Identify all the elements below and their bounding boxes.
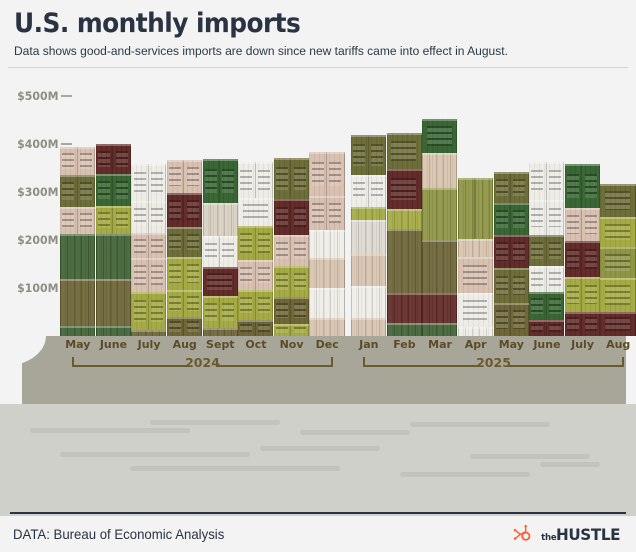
container-top-edge — [167, 290, 202, 292]
shipping-container — [387, 169, 422, 209]
container-panel — [309, 258, 344, 288]
container-top-edge — [309, 152, 344, 154]
shipping-container — [60, 326, 95, 336]
container-panel — [547, 235, 565, 266]
shipping-container — [274, 235, 309, 266]
container-panel — [369, 175, 387, 207]
shipping-container — [494, 303, 529, 336]
container-top-edge — [387, 229, 422, 231]
container-panel — [149, 292, 167, 330]
container-top-edge — [600, 247, 635, 249]
shipping-container — [203, 296, 238, 328]
shipping-container — [131, 201, 166, 233]
container-panel — [96, 144, 114, 174]
shipping-container — [131, 258, 166, 292]
container-panel — [494, 172, 512, 203]
container-top-edge — [167, 227, 202, 229]
bar-aug-2024[interactable] — [167, 160, 202, 336]
shipping-container — [60, 147, 95, 175]
shipping-container — [131, 233, 166, 258]
container-panel — [458, 293, 493, 327]
container-top-edge — [529, 292, 564, 294]
container-top-edge — [167, 257, 202, 259]
container-top-edge — [422, 293, 457, 295]
container-panel — [167, 317, 185, 336]
container-panel — [203, 236, 221, 267]
wave — [60, 452, 250, 457]
shipping-container — [351, 318, 386, 336]
container-top-edge — [600, 217, 635, 219]
brand-lockup[interactable]: the HUSTLE — [512, 524, 624, 544]
shipping-container — [565, 208, 600, 241]
container-top-edge — [203, 159, 238, 161]
container-panel — [238, 162, 256, 198]
imports-bar-chart: $500M$400M$300M$200M$100M — [0, 78, 636, 348]
container-panel — [351, 318, 386, 336]
container-panel — [256, 290, 274, 320]
container-panel — [387, 229, 422, 293]
bar-june-2024[interactable] — [96, 144, 131, 336]
container-panel — [422, 293, 457, 323]
container-top-edge — [565, 312, 600, 314]
container-top-edge — [494, 303, 529, 305]
shipping-container — [274, 158, 309, 199]
shipping-container — [167, 227, 202, 257]
container-top-edge — [422, 188, 457, 190]
container-panel — [529, 235, 547, 266]
container-top-edge — [351, 318, 386, 320]
container-panel — [291, 266, 309, 297]
container-panel — [184, 317, 202, 336]
container-top-edge — [274, 324, 309, 326]
container-top-edge — [600, 312, 635, 314]
container-panel — [203, 267, 238, 296]
hustle-wordmark: the HUSTLE — [541, 525, 624, 544]
container-top-edge — [458, 293, 493, 295]
container-top-edge — [96, 326, 131, 328]
container-top-edge — [494, 203, 529, 205]
shipping-container — [494, 203, 529, 235]
shipping-container — [565, 277, 600, 312]
container-panel — [131, 233, 149, 258]
container-top-edge — [565, 241, 600, 243]
container-top-edge — [351, 135, 386, 137]
bar-sept-2024[interactable] — [203, 159, 238, 336]
container-panel — [274, 235, 292, 266]
container-top-edge — [96, 144, 131, 146]
wave — [260, 446, 380, 451]
shipping-container — [167, 160, 202, 193]
container-top-edge — [274, 297, 309, 299]
container-panel — [184, 290, 202, 317]
container-top-edge — [131, 233, 166, 235]
y-axis-label: $300M — [17, 185, 58, 199]
container-top-edge — [60, 147, 95, 149]
shipping-container — [203, 203, 238, 236]
container-panel — [547, 320, 565, 336]
container-panel — [220, 236, 238, 267]
container-top-edge — [60, 279, 95, 281]
container-panel — [238, 198, 273, 226]
x-axis-month-label: Nov — [280, 338, 304, 351]
container-top-edge — [131, 330, 166, 332]
x-axis-month-label: July — [138, 338, 161, 351]
wave — [470, 454, 590, 459]
container-panel — [351, 220, 386, 254]
container-top-edge — [274, 158, 309, 160]
container-panel — [149, 233, 167, 258]
year-brace-2025: 2025 — [363, 356, 624, 369]
wave — [130, 466, 340, 471]
container-panel — [494, 268, 512, 303]
x-axis-month-label: May — [499, 338, 524, 351]
container-panel — [131, 201, 149, 233]
x-axis-month-label: Jan — [359, 338, 378, 351]
y-axis-label: $500M — [17, 89, 58, 103]
container-top-edge — [309, 258, 344, 260]
x-axis-month-label: May — [65, 338, 90, 351]
container-panel — [327, 196, 345, 230]
shipping-container — [203, 159, 238, 203]
shipping-container — [494, 235, 529, 268]
container-panel — [184, 160, 202, 193]
bar-jan-2025[interactable] — [351, 135, 386, 336]
container-panel — [149, 258, 167, 292]
container-top-edge — [565, 164, 600, 166]
container-panel — [131, 292, 149, 330]
container-top-edge — [238, 290, 273, 292]
hubspot-sprocket-icon — [512, 524, 532, 544]
container-top-edge — [387, 209, 422, 211]
shipping-container — [600, 312, 635, 336]
shipping-container — [131, 292, 166, 330]
container-panel — [60, 234, 95, 279]
brace-line-right — [217, 365, 334, 367]
container-top-edge — [529, 162, 564, 164]
shipping-container — [60, 207, 95, 234]
container-panel — [131, 258, 149, 292]
container-panel — [600, 278, 635, 312]
container-top-edge — [203, 267, 238, 269]
container-panel — [203, 203, 238, 236]
container-top-edge — [458, 178, 493, 180]
container-panel — [582, 241, 600, 277]
container-panel — [256, 162, 274, 198]
container-top-edge — [131, 164, 166, 166]
x-axis-month-label: Sept — [206, 338, 235, 351]
container-top-edge — [529, 235, 564, 237]
container-panel — [422, 188, 457, 240]
container-panel — [582, 277, 600, 312]
shipping-container — [238, 198, 273, 226]
brand-the: the — [541, 533, 556, 543]
container-panel — [600, 184, 635, 217]
bar-june-2025[interactable] — [529, 162, 564, 336]
wave — [540, 462, 600, 467]
container-top-edge — [387, 133, 422, 135]
container-top-edge — [60, 234, 95, 236]
container-panel — [547, 266, 565, 292]
container-panel — [582, 208, 600, 241]
container-panel — [387, 169, 422, 209]
year-brace-2024: 2024 — [72, 356, 333, 369]
container-panel — [458, 178, 476, 239]
shipping-container — [529, 235, 564, 266]
container-panel — [256, 320, 274, 336]
container-top-edge — [167, 160, 202, 162]
shipping-container — [309, 258, 344, 288]
bar-aug-2025[interactable] — [600, 184, 635, 336]
container-top-edge — [131, 292, 166, 294]
shipping-container — [203, 328, 238, 336]
container-panel — [274, 158, 292, 199]
shipping-container — [351, 254, 386, 286]
container-panel — [494, 235, 512, 268]
bar-july-2025[interactable] — [565, 164, 600, 336]
shipping-container — [600, 217, 635, 247]
container-top-edge — [494, 268, 529, 270]
shipping-container — [309, 196, 344, 230]
container-panel — [475, 178, 493, 239]
container-top-edge — [458, 327, 493, 329]
container-panel — [291, 158, 309, 199]
x-axis-month-label: Feb — [393, 338, 415, 351]
container-top-edge — [309, 288, 344, 290]
shipping-container — [458, 327, 493, 336]
container-panel — [547, 162, 565, 200]
shipping-container — [309, 152, 344, 196]
container-panel — [131, 164, 149, 201]
container-panel — [274, 199, 292, 235]
container-top-edge — [238, 198, 273, 200]
container-panel — [387, 209, 422, 229]
shipping-container — [600, 184, 635, 217]
y-axis-label: $400M — [17, 137, 58, 151]
shipping-container — [131, 164, 166, 201]
container-top-edge — [96, 234, 131, 236]
container-panel — [184, 193, 202, 227]
container-panel — [547, 292, 565, 320]
shipping-container — [96, 206, 131, 234]
bar-july-2024[interactable] — [131, 164, 166, 336]
container-panel — [113, 144, 131, 174]
container-panel — [529, 200, 547, 235]
container-top-edge — [529, 200, 564, 202]
container-top-edge — [203, 203, 238, 205]
container-top-edge — [458, 239, 493, 241]
wave — [410, 422, 550, 427]
container-top-edge — [238, 162, 273, 164]
shipping-container — [422, 240, 457, 293]
container-panel — [387, 133, 422, 169]
shipping-container — [529, 292, 564, 320]
container-top-edge — [351, 175, 386, 177]
wave — [400, 472, 530, 477]
shipping-container — [529, 266, 564, 292]
plot-area — [60, 78, 636, 348]
container-panel — [529, 292, 547, 320]
container-top-edge — [274, 199, 309, 201]
container-panel — [309, 288, 344, 318]
container-top-edge — [309, 196, 344, 198]
sea — [0, 404, 636, 516]
bar-feb-2025[interactable] — [387, 133, 422, 336]
shipping-container — [274, 297, 309, 324]
shipping-container — [60, 234, 95, 279]
container-panel — [78, 175, 96, 207]
container-panel — [167, 227, 185, 257]
shipping-container — [167, 290, 202, 317]
container-panel — [600, 217, 635, 247]
container-top-edge — [422, 240, 457, 242]
bar-nov-2024[interactable] — [274, 158, 309, 336]
container-top-edge — [422, 323, 457, 325]
shipping-container — [351, 220, 386, 254]
shipping-container — [565, 164, 600, 208]
shipping-container — [600, 278, 635, 312]
container-top-edge — [96, 206, 131, 208]
shipping-container — [96, 326, 131, 336]
shipping-container — [458, 178, 493, 239]
container-panel — [220, 296, 238, 328]
page-title: U.S. monthly imports — [14, 10, 573, 38]
container-top-edge — [203, 328, 238, 330]
container-panel — [238, 290, 256, 320]
container-top-edge — [458, 257, 493, 259]
container-panel — [511, 268, 529, 303]
bar-dec-2024[interactable] — [309, 152, 344, 336]
shipping-container — [422, 153, 457, 188]
shipping-container — [309, 230, 344, 258]
shipping-container — [203, 236, 238, 267]
x-axis-month-label: Apr — [465, 338, 487, 351]
container-top-edge — [131, 258, 166, 260]
container-panel — [184, 227, 202, 257]
bar-oct-2024[interactable] — [238, 162, 273, 336]
shipping-container — [600, 247, 635, 278]
data-source-label: DATA: Bureau of Economic Analysis — [13, 527, 224, 542]
bar-may-2024[interactable] — [60, 147, 95, 336]
shipping-container — [238, 226, 273, 260]
shipping-container — [167, 317, 202, 336]
x-axis-month-label: June — [100, 338, 127, 351]
container-panel — [167, 193, 185, 227]
shipping-container — [458, 293, 493, 327]
container-panel — [529, 162, 547, 200]
shipping-container — [351, 286, 386, 318]
container-panel — [113, 206, 131, 234]
container-top-edge — [203, 296, 238, 298]
container-panel — [238, 320, 256, 336]
shipping-container — [309, 288, 344, 318]
container-top-edge — [309, 318, 344, 320]
container-panel — [327, 152, 345, 196]
container-top-edge — [274, 266, 309, 268]
shipping-container — [529, 162, 564, 200]
container-top-edge — [565, 277, 600, 279]
container-top-edge — [60, 207, 95, 209]
container-top-edge — [422, 119, 457, 121]
shipping-container — [351, 207, 386, 220]
x-axis-month-label: Dec — [316, 338, 339, 351]
container-top-edge — [203, 236, 238, 238]
container-panel — [203, 296, 221, 328]
container-top-edge — [494, 172, 529, 174]
container-top-edge — [565, 208, 600, 210]
container-top-edge — [387, 169, 422, 171]
shipping-container — [494, 268, 529, 303]
shipping-container — [238, 162, 273, 198]
container-top-edge — [274, 235, 309, 237]
shipping-container — [565, 312, 600, 336]
container-top-edge — [600, 278, 635, 280]
container-panel — [422, 119, 457, 153]
wave — [30, 428, 190, 433]
shipping-container — [274, 324, 309, 336]
infographic-page: U.S. monthly imports Data shows good-and… — [0, 0, 636, 552]
shipping-container — [565, 241, 600, 277]
shipping-container — [529, 320, 564, 336]
footer: DATA: Bureau of Economic Analysis the HU… — [0, 516, 636, 552]
shipping-container — [387, 133, 422, 169]
year-label: 2025 — [473, 357, 514, 369]
x-axis-month-label: Aug — [173, 338, 197, 351]
bar-mar-2025[interactable] — [422, 119, 457, 336]
shipping-container — [422, 293, 457, 323]
shipping-container — [238, 260, 273, 290]
container-top-edge — [238, 226, 273, 228]
shipping-container — [238, 320, 273, 336]
container-panel — [494, 303, 512, 336]
container-panel — [167, 290, 185, 317]
container-panel — [351, 135, 369, 175]
brace-line-left — [363, 365, 480, 367]
container-panel — [529, 266, 547, 292]
shipping-container — [387, 229, 422, 293]
bar-apr-2025[interactable] — [458, 178, 493, 336]
container-top-edge — [131, 201, 166, 203]
container-panel — [387, 293, 422, 323]
container-top-edge — [351, 220, 386, 222]
container-panel — [582, 312, 600, 336]
page-subtitle: Data shows good-and-services imports are… — [14, 44, 604, 58]
container-panel — [529, 320, 547, 336]
shipping-container — [458, 257, 493, 293]
shipping-container — [529, 200, 564, 235]
container-panel — [60, 207, 78, 234]
container-panel — [565, 241, 583, 277]
y-axis-label: $100M — [17, 281, 58, 295]
container-panel — [78, 147, 96, 175]
container-panel — [511, 203, 529, 235]
container-top-edge — [96, 279, 131, 281]
container-panel — [511, 303, 529, 336]
container-panel — [565, 164, 583, 208]
container-panel — [167, 257, 185, 290]
container-panel — [149, 201, 167, 233]
container-panel — [78, 207, 96, 234]
container-top-edge — [351, 207, 386, 209]
bar-may-2025[interactable] — [494, 172, 529, 336]
container-panel — [351, 286, 386, 318]
shipping-container — [274, 266, 309, 297]
container-panel — [547, 200, 565, 235]
container-top-edge — [600, 184, 635, 186]
x-axis-month-label: Aug — [606, 338, 630, 351]
container-panel — [422, 153, 457, 188]
shipping-container — [387, 293, 422, 323]
container-panel — [60, 175, 78, 207]
